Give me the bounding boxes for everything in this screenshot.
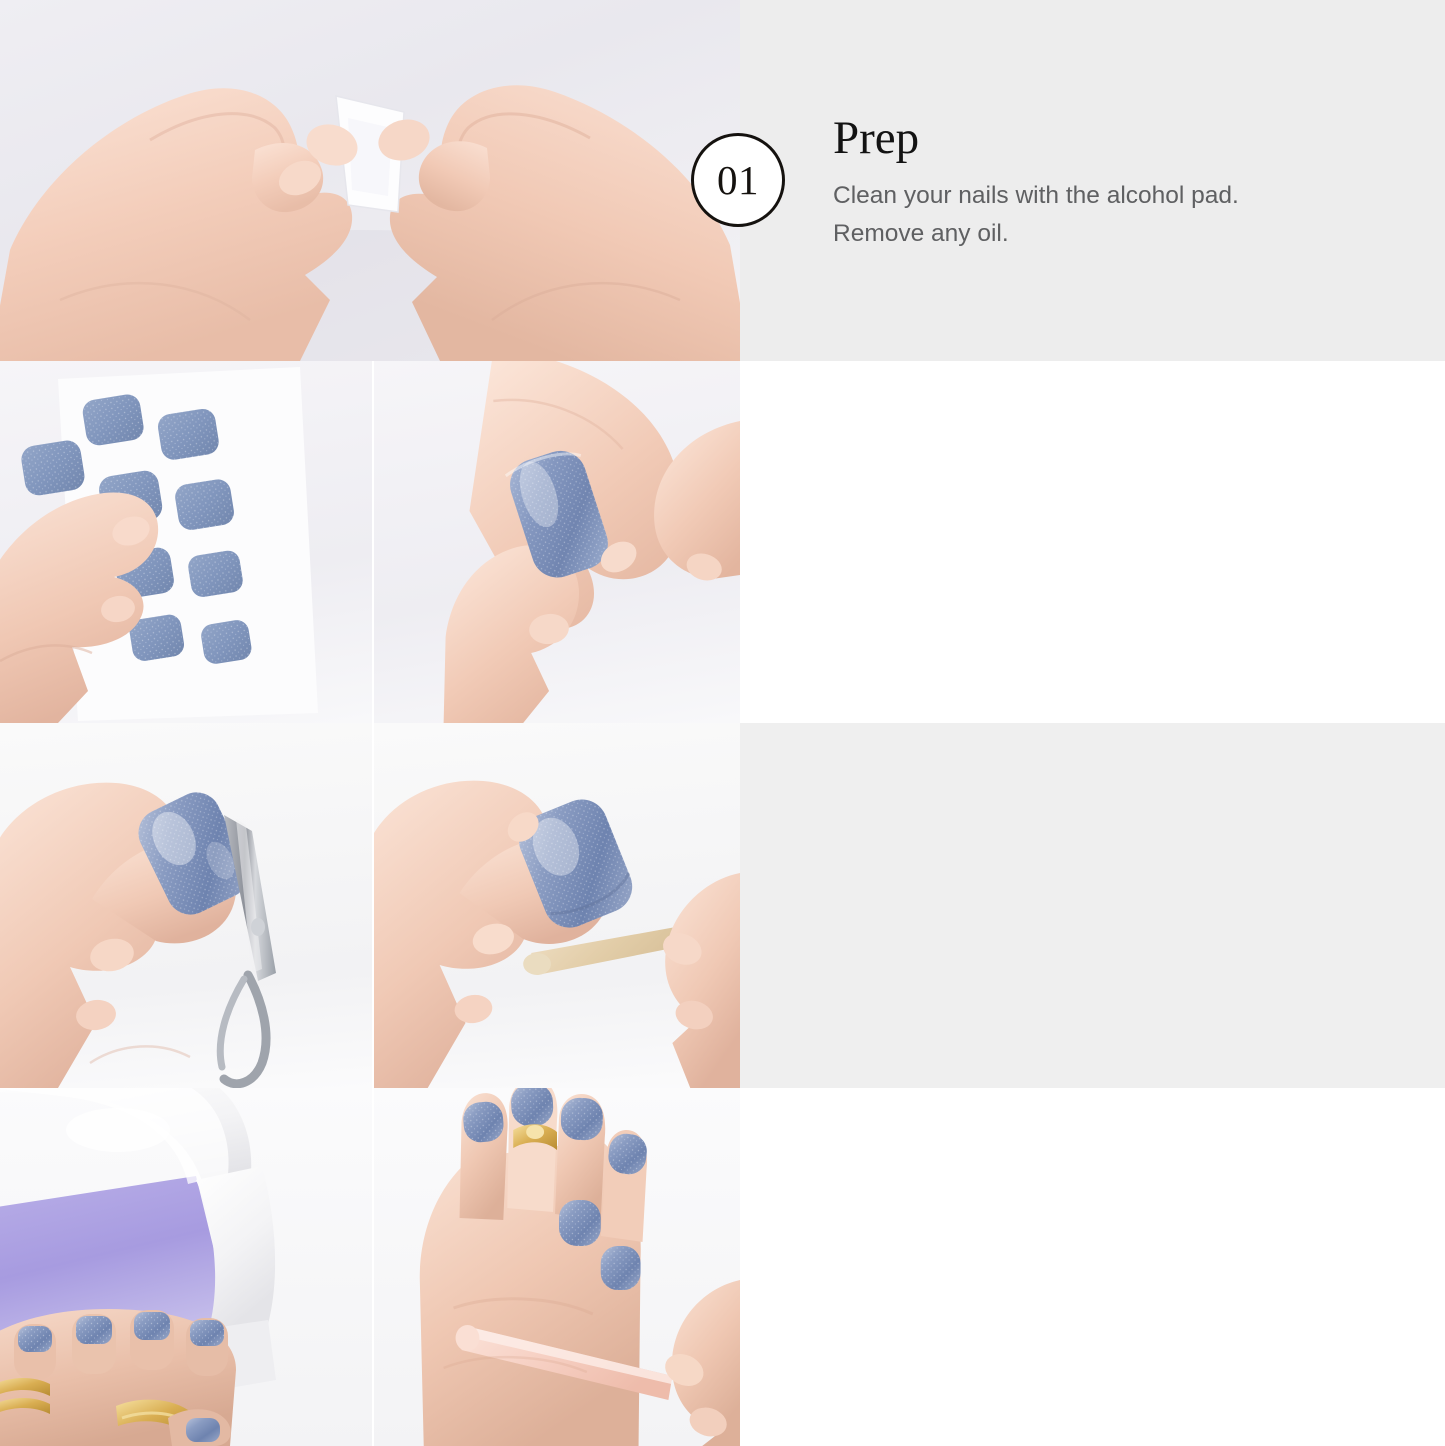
- photo-column: [0, 0, 740, 361]
- step-row-01: 01 Prep Clean your nails with the alcoho…: [0, 0, 1445, 361]
- photo-sheet-of-blue-glitter-nail-strips: [0, 361, 372, 723]
- step-row-02: 02 Select & Apply Select the strip sligh…: [0, 361, 1445, 723]
- photo-hands-cleaning-nail-with-alcohol-pad: [0, 0, 740, 361]
- instruction-sheet: 01 Prep Clean your nails with the alcoho…: [0, 0, 1445, 1446]
- step-description: Clean your nails with the alcohol pad. R…: [833, 177, 1433, 253]
- photo-applying-strip-to-thumb-nail: [372, 361, 740, 723]
- step-row-04: 04 Cure & Smooth Cure the strips under U…: [0, 1088, 1445, 1446]
- step-number: 01: [717, 156, 759, 204]
- step-title: Prep: [833, 113, 1433, 164]
- photo-column: [0, 723, 740, 1088]
- step-row-03: 03 Trim & Press Firmly press the edges o…: [0, 723, 1445, 1088]
- description-line: Clean your nails with the alcohol pad.: [833, 177, 1433, 215]
- step-badge-01: 01: [691, 133, 785, 227]
- photo-filing-nail-edges-with-nail-file: [372, 1088, 740, 1446]
- description-line: Remove any oil.: [833, 215, 1433, 253]
- photo-column: [0, 361, 740, 723]
- step-text-01: Prep Clean your nails with the alcohol p…: [833, 113, 1433, 253]
- photo-trimming-strip-with-nail-clippers: [0, 723, 372, 1088]
- photo-pressing-edges-with-cuticle-stick: [372, 723, 740, 1088]
- photo-hand-curing-under-uv-lamp: [0, 1088, 372, 1446]
- photo-column: [0, 1088, 740, 1446]
